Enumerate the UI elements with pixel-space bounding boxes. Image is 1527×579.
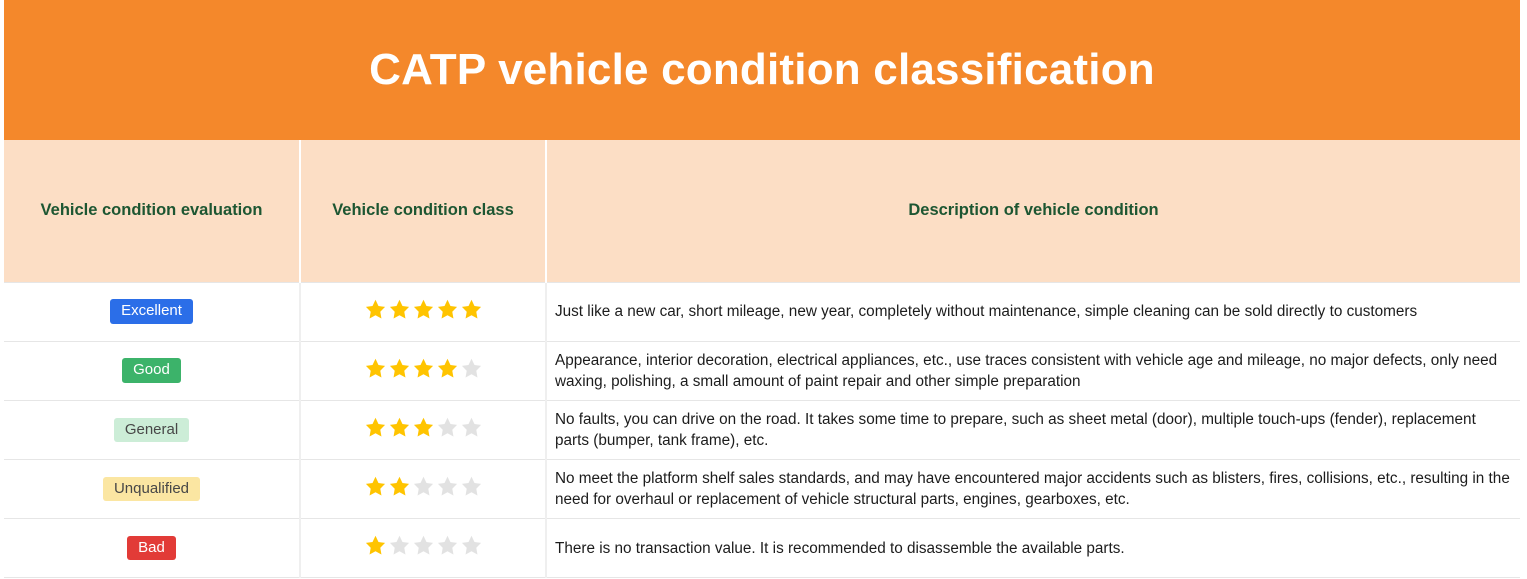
vehicle-condition-table: Vehicle condition evaluation Vehicle con… — [4, 140, 1520, 578]
star-empty-icon — [436, 475, 459, 498]
cell-description: No meet the platform shelf sales standar… — [546, 459, 1520, 518]
table-body: ExcellentJust like a new car, short mile… — [4, 282, 1520, 578]
star-empty-icon — [436, 534, 459, 557]
status-badge: Bad — [127, 536, 176, 560]
star-filled-icon — [412, 416, 435, 439]
star-filled-icon — [412, 357, 435, 380]
cell-evaluation: Excellent — [4, 282, 300, 341]
column-header-description: Description of vehicle condition — [546, 140, 1520, 282]
star-filled-icon — [364, 475, 387, 498]
star-rating — [364, 416, 483, 439]
star-empty-icon — [412, 534, 435, 557]
table-header-row: Vehicle condition evaluation Vehicle con… — [4, 140, 1520, 282]
cell-evaluation: General — [4, 400, 300, 459]
star-empty-icon — [460, 416, 483, 439]
star-filled-icon — [364, 416, 387, 439]
cell-description: Just like a new car, short mileage, new … — [546, 282, 1520, 341]
star-filled-icon — [364, 298, 387, 321]
cell-condition-class — [300, 282, 546, 341]
star-filled-icon — [460, 298, 483, 321]
star-rating — [364, 357, 483, 380]
star-filled-icon — [436, 357, 459, 380]
star-filled-icon — [388, 357, 411, 380]
star-filled-icon — [364, 357, 387, 380]
star-filled-icon — [364, 534, 387, 557]
star-empty-icon — [436, 416, 459, 439]
star-filled-icon — [436, 298, 459, 321]
status-badge: Good — [122, 358, 181, 382]
cell-description: There is no transaction value. It is rec… — [546, 519, 1520, 578]
cell-condition-class — [300, 459, 546, 518]
star-empty-icon — [460, 475, 483, 498]
star-empty-icon — [412, 475, 435, 498]
cell-evaluation: Unqualified — [4, 459, 300, 518]
star-empty-icon — [460, 534, 483, 557]
cell-description: Appearance, interior decoration, electri… — [546, 341, 1520, 400]
cell-description: No faults, you can drive on the road. It… — [546, 400, 1520, 459]
table-row: GeneralNo faults, you can drive on the r… — [4, 400, 1520, 459]
status-badge: General — [114, 418, 189, 442]
column-header-class: Vehicle condition class — [300, 140, 546, 282]
star-filled-icon — [412, 298, 435, 321]
page-title: CATP vehicle condition classification — [369, 46, 1155, 94]
table-header: Vehicle condition evaluation Vehicle con… — [4, 140, 1520, 282]
star-rating — [364, 298, 483, 321]
star-filled-icon — [388, 416, 411, 439]
column-header-evaluation: Vehicle condition evaluation — [4, 140, 300, 282]
page-root: CATP vehicle condition classification Ve… — [0, 0, 1527, 579]
star-filled-icon — [388, 475, 411, 498]
star-empty-icon — [388, 534, 411, 557]
title-banner: CATP vehicle condition classification — [4, 0, 1520, 140]
star-rating — [364, 475, 483, 498]
status-badge: Excellent — [110, 299, 193, 323]
cell-evaluation: Good — [4, 341, 300, 400]
cell-condition-class — [300, 400, 546, 459]
cell-condition-class — [300, 519, 546, 578]
star-filled-icon — [388, 298, 411, 321]
table-row: UnqualifiedNo meet the platform shelf sa… — [4, 459, 1520, 518]
cell-condition-class — [300, 341, 546, 400]
table-row: GoodAppearance, interior decoration, ele… — [4, 341, 1520, 400]
cell-evaluation: Bad — [4, 519, 300, 578]
star-rating — [364, 534, 483, 557]
table-row: BadThere is no transaction value. It is … — [4, 519, 1520, 578]
status-badge: Unqualified — [103, 477, 200, 501]
table-row: ExcellentJust like a new car, short mile… — [4, 282, 1520, 341]
star-empty-icon — [460, 357, 483, 380]
